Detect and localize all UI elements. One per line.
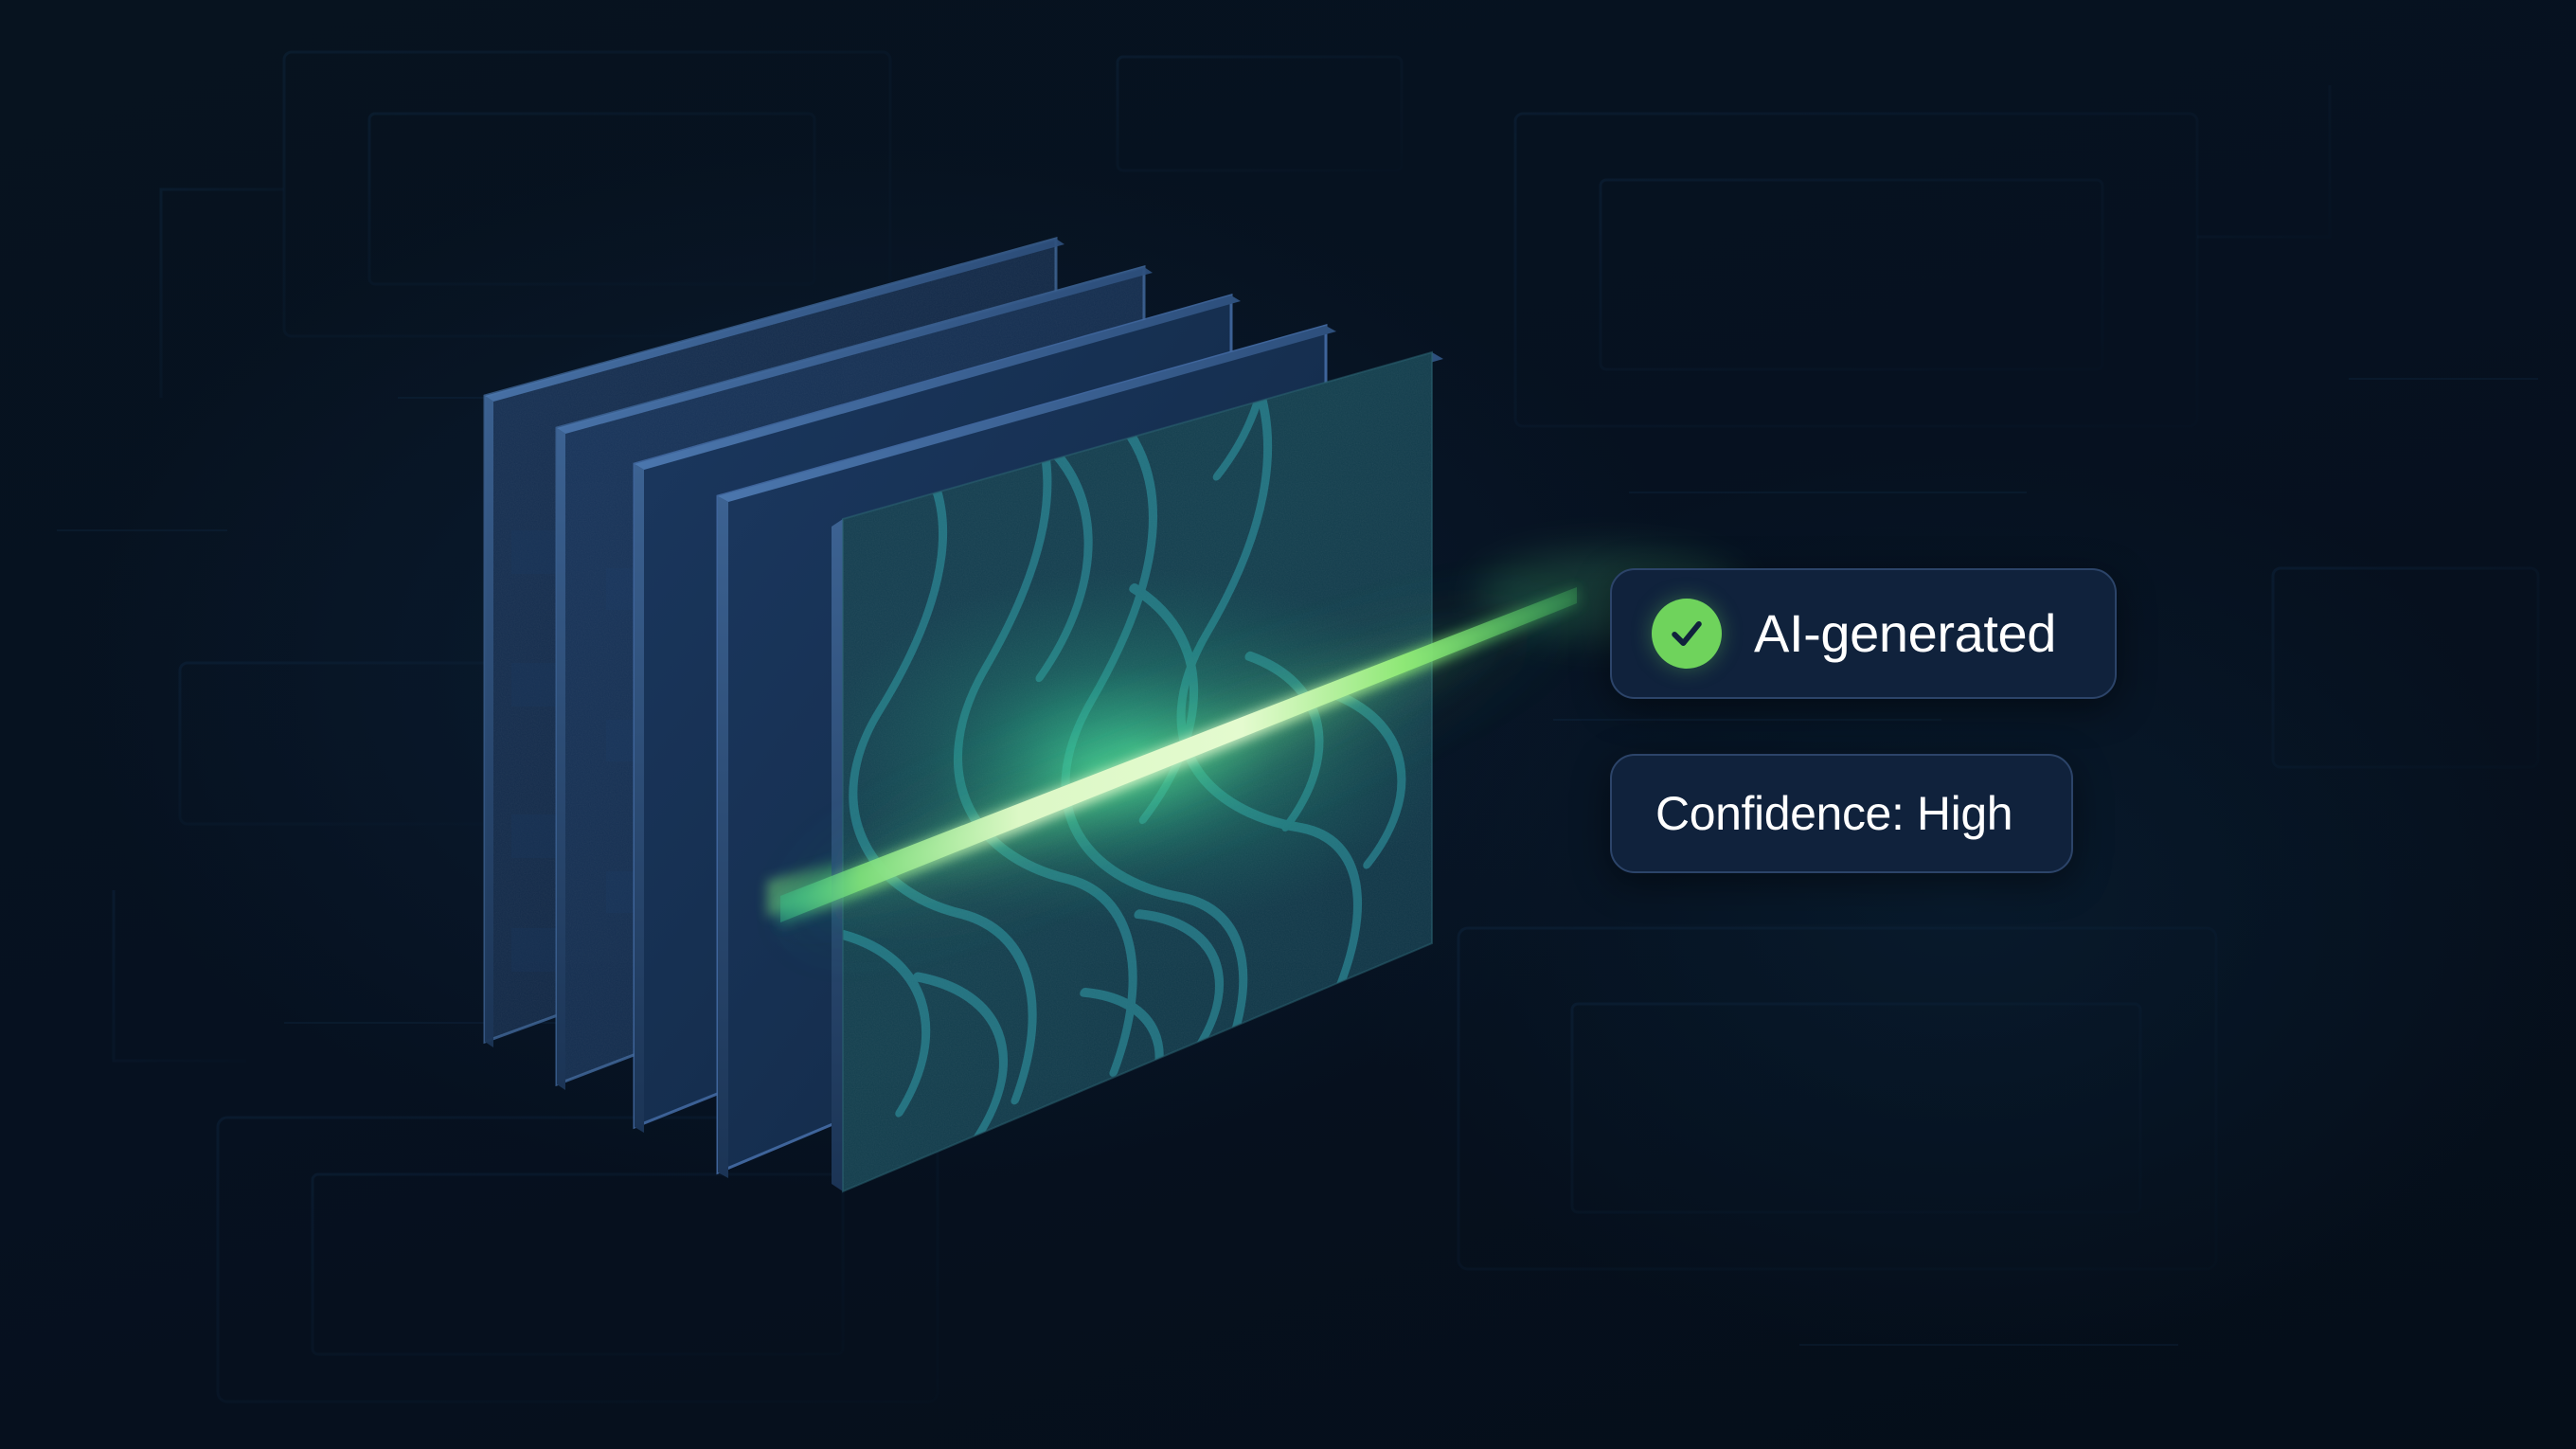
badge-confidence[interactable]: Confidence: High [1610, 754, 2073, 873]
panel-stack-illustration [0, 0, 2576, 1449]
badge-ai-generated-label: AI-generated [1754, 607, 2056, 660]
detection-result-panel: AI-generated Confidence: High [1610, 568, 2117, 873]
badge-ai-generated[interactable]: AI-generated [1610, 568, 2117, 699]
badge-confidence-label: Confidence: High [1655, 790, 2012, 837]
check-circle-icon [1652, 599, 1722, 669]
scene-root: AI-generated Confidence: High [0, 0, 2576, 1449]
